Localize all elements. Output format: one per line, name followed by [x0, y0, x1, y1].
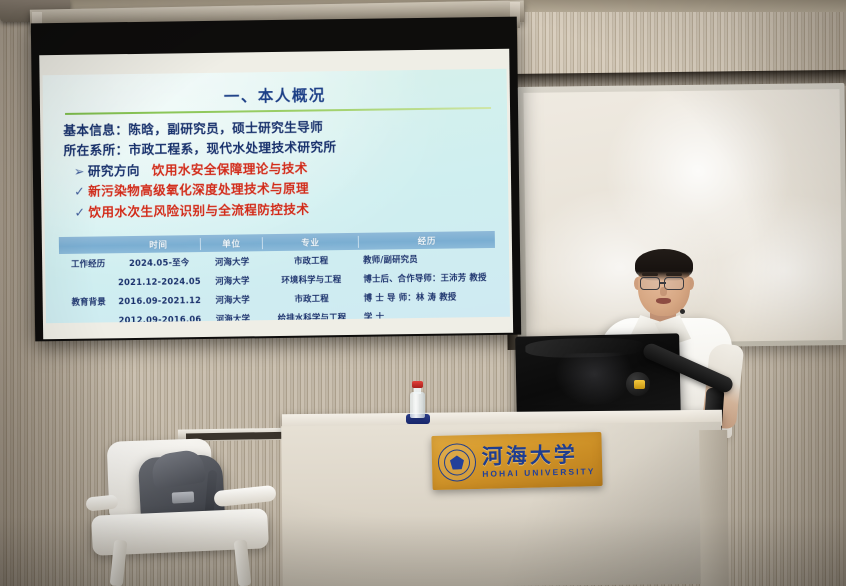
bullet-text-risk-control: 饮用水次生风险识别与全流程防控技术: [88, 201, 309, 219]
cv-cell-time: 2016.09-2021.12: [118, 295, 202, 306]
bullet-text-research-direction: 饮用水安全保障理论与技术: [152, 160, 308, 177]
bullet-text-oxidation: 新污染物高级氧化深度处理技术与原理: [88, 181, 309, 199]
presenter-mouth: [656, 298, 671, 304]
cv-cell-time: 2021.12-2024.05: [117, 276, 201, 287]
cv-cell-unit: 河海大学: [202, 312, 264, 324]
bottle-cap: [412, 381, 423, 388]
university-plaque: 河海大学 HOHAI UNIVERSITY: [431, 432, 602, 490]
bullet-label-research-direction: 研究方向: [88, 163, 140, 179]
water-bottle-icon: [410, 392, 425, 418]
projection-screen-surface: 一、本人概况 基本信息：陈晗，副研究员，硕士研究生导师 所在系所：市政工程系，现…: [39, 49, 513, 340]
monitor-reflection: [555, 353, 635, 407]
cv-cell-major: 市政工程: [263, 253, 359, 266]
backpack-label-patch: [172, 491, 195, 503]
eyeglasses-icon: [640, 277, 660, 290]
cv-cell-experience: 学 士: [360, 308, 496, 322]
eyeglasses-bridge: [659, 282, 666, 284]
cv-rowlabel-blank-1: [59, 282, 117, 283]
cv-cell-time: 2024.05-至今: [117, 256, 201, 269]
presenter-nose: [660, 287, 667, 296]
cv-header-major: 专业: [263, 235, 359, 248]
cv-table: 时间 单位 专业 经历 工作经历 2024.05-至今 河海大学 市政工程 教师…: [59, 231, 496, 323]
cv-rowlabel-work: 工作经历: [59, 257, 117, 270]
cv-cell-unit: 河海大学: [201, 274, 263, 287]
cv-rowlabel-education: 教育背景: [60, 295, 118, 308]
plaque-english-name: HOHAI UNIVERSITY: [482, 467, 595, 478]
cv-cell-major: 市政工程: [264, 291, 360, 304]
arrow-bullet-icon: ➢: [74, 161, 88, 182]
plaque-text-group: 河海大学 HOHAI UNIVERSITY: [482, 443, 596, 478]
cv-header-unit: 单位: [201, 237, 263, 250]
plaque-chinese-name: 河海大学: [482, 443, 596, 467]
lapel-microphone-icon: [680, 309, 685, 314]
slide-body: 基本信息：陈晗，副研究员，硕士研究生导师 所在系所：市政工程系，现代水处理技术研…: [63, 115, 494, 223]
slide-title-rule: [65, 107, 491, 115]
cv-cell-unit: 河海大学: [202, 293, 264, 306]
cv-rowlabel-blank-2: [60, 320, 118, 321]
presentation-slide: 一、本人概况 基本信息：陈晗，副研究员，硕士研究生导师 所在系所：市政工程系，现…: [43, 69, 510, 323]
cv-cell-time: 2012.09-2016.06: [118, 314, 202, 324]
floor-shading: [0, 516, 846, 586]
check-bullet-icon: ✓: [74, 182, 88, 203]
cv-cell-major: 环境科学与工程: [263, 272, 359, 285]
cv-cell-experience: 博 士 导 师：林 涛 教授: [360, 289, 496, 303]
cv-header-time: 时间: [117, 238, 201, 251]
cv-header-blank: [59, 245, 117, 246]
projection-screen: 一、本人概况 基本信息：陈晗，副研究员，硕士研究生导师 所在系所：市政工程系，现…: [31, 17, 521, 342]
cv-cell-unit: 河海大学: [201, 255, 263, 268]
slide-title: 一、本人概况: [43, 81, 507, 109]
cv-cell-experience: 教师/副研究员: [359, 251, 495, 265]
lecture-hall-photo: 一、本人概况 基本信息：陈晗，副研究员，硕士研究生导师 所在系所：市政工程系，现…: [0, 0, 846, 586]
microphone-badge: [634, 380, 645, 389]
hohai-emblem-icon: [438, 443, 477, 482]
cv-cell-experience: 博士后、合作导师：王沛芳 教授: [359, 270, 495, 284]
eyeglasses-right-lens: [664, 277, 684, 290]
cv-cell-major: 给排水科学与工程: [264, 310, 360, 323]
cv-header-experience: 经历: [359, 233, 495, 247]
check-bullet-icon-2: ✓: [74, 202, 88, 223]
presenter-eyebrow-left: [642, 273, 658, 276]
presenter-eyebrow-right: [666, 273, 682, 276]
